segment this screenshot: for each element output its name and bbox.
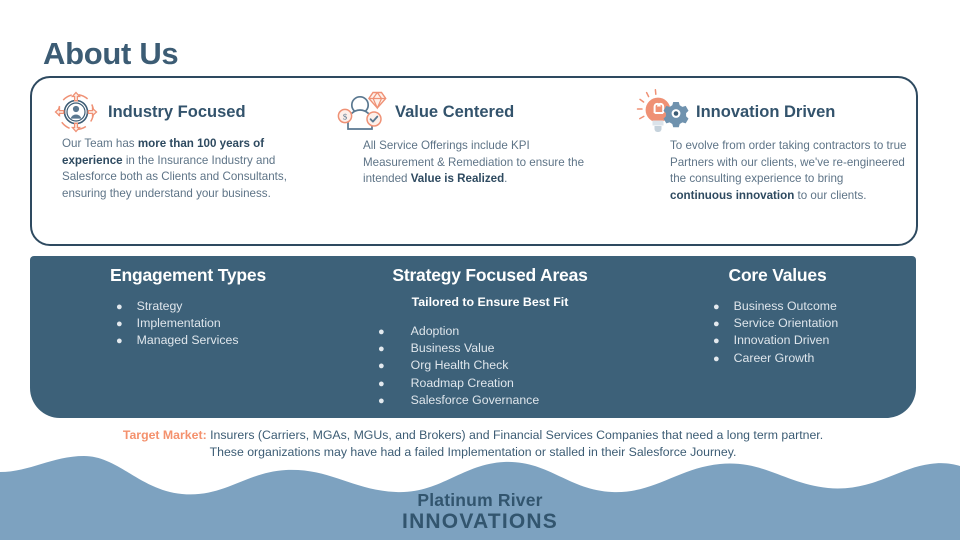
list-item-label: Implementation	[137, 315, 221, 331]
panel-column-engagement-types: Engagement Types ●Strategy●Implementatio…	[38, 256, 338, 350]
list-item-label: Business Outcome	[734, 298, 837, 314]
panel-column-strategy-focused-areas: Strategy Focused Areas Tailored to Ensur…	[340, 256, 640, 409]
highlights-panel: Engagement Types ●Strategy●Implementatio…	[30, 256, 916, 418]
list-item-label: Innovation Driven	[734, 332, 830, 348]
bullet-icon: ●	[378, 376, 385, 392]
feature-body: All Service Offerings include KPI Measur…	[363, 138, 585, 188]
panel-list: ●Adoption●Business Value●Org Health Chec…	[340, 323, 640, 409]
feature-title: Innovation Driven	[696, 103, 835, 122]
list-item: ●Org Health Check	[378, 357, 640, 374]
bullet-icon: ●	[116, 299, 123, 315]
bullet-icon: ●	[116, 316, 123, 332]
feature-body: Our Team has more than 100 years of expe…	[62, 136, 302, 202]
feature-column-innovation-driven: Innovation Driven To evolve from order t…	[636, 88, 914, 204]
bullet-icon: ●	[116, 333, 123, 349]
feature-column-industry-focused: Industry Focused Our Team has more than …	[48, 88, 326, 202]
target-market-line1: Insurers (Carriers, MGAs, MGUs, and Brok…	[207, 428, 823, 442]
panel-list: ●Strategy●Implementation●Managed Service…	[38, 298, 338, 350]
list-item-label: Strategy	[137, 298, 183, 314]
panel-column-subtitle: Tailored to Ensure Best Fit	[340, 295, 640, 309]
wave-decoration	[0, 450, 960, 540]
bullet-icon: ●	[378, 341, 385, 357]
list-item-label: Roadmap Creation	[411, 375, 514, 391]
bullet-icon: ●	[378, 358, 385, 374]
feature-header: $ Value Centered	[335, 88, 620, 136]
list-item-label: Service Orientation	[734, 315, 839, 331]
feature-title: Industry Focused	[108, 103, 246, 122]
panel-column-core-values: Core Values ●Business Outcome●Service Or…	[645, 256, 910, 367]
list-item: ●Service Orientation	[713, 315, 910, 332]
list-item: ●Innovation Driven	[713, 332, 910, 349]
target-person-icon	[48, 89, 104, 135]
page-title: About Us	[43, 36, 178, 72]
svg-text:$: $	[343, 111, 348, 121]
features-card: Industry Focused Our Team has more than …	[30, 76, 918, 246]
feature-body: To evolve from order taking contractors …	[670, 138, 908, 204]
list-item: ●Salesforce Governance	[378, 392, 640, 409]
feature-title: Value Centered	[395, 103, 514, 122]
list-item-label: Salesforce Governance	[411, 392, 540, 408]
feature-header: Industry Focused	[48, 88, 326, 136]
bullet-icon: ●	[378, 324, 385, 340]
list-item: ●Business Value	[378, 340, 640, 357]
bullet-icon: ●	[713, 351, 720, 367]
panel-column-title: Engagement Types	[38, 256, 338, 286]
panel-column-title: Strategy Focused Areas	[340, 256, 640, 286]
list-item: ●Managed Services	[116, 332, 338, 349]
bullet-icon: ●	[713, 333, 720, 349]
list-item: ●Implementation	[116, 315, 338, 332]
list-item: ●Business Outcome	[713, 298, 910, 315]
feature-column-value-centered: $ Value Centered All Service Offerings i…	[335, 88, 620, 188]
target-market-label: Target Market:	[123, 428, 207, 442]
list-item-label: Business Value	[411, 340, 495, 356]
list-item: ●Career Growth	[713, 350, 910, 367]
list-item: ●Roadmap Creation	[378, 375, 640, 392]
value-person-diamond-icon: $	[335, 89, 391, 135]
lightbulb-gear-icon	[636, 89, 692, 135]
bullet-icon: ●	[713, 299, 720, 315]
panel-column-title: Core Values	[645, 256, 910, 286]
feature-header: Innovation Driven	[636, 88, 914, 136]
list-item-label: Adoption	[411, 323, 460, 339]
bullet-icon: ●	[713, 316, 720, 332]
list-item-label: Career Growth	[734, 350, 815, 366]
bullet-icon: ●	[378, 393, 385, 409]
list-item-label: Org Health Check	[411, 357, 509, 373]
panel-list: ●Business Outcome●Service Orientation●In…	[645, 298, 910, 367]
slide-canvas: About Us I	[0, 0, 960, 540]
list-item: ●Adoption	[378, 323, 640, 340]
list-item-label: Managed Services	[137, 332, 239, 348]
list-item: ●Strategy	[116, 298, 338, 315]
